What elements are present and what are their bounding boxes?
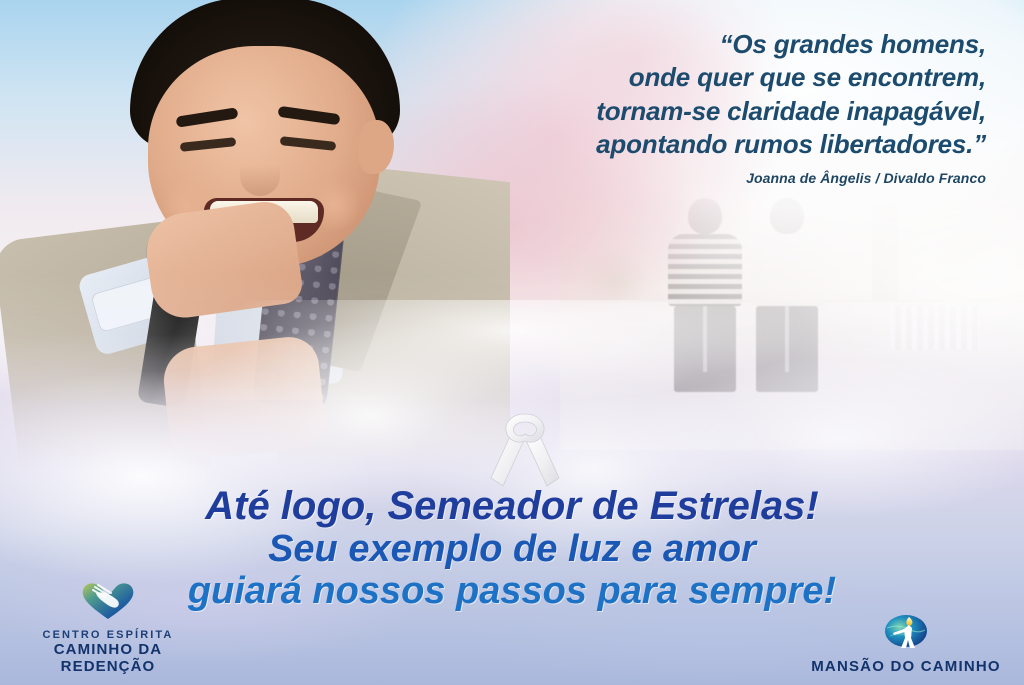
quote-line-2: onde quer que se encontrem, <box>386 61 986 94</box>
globe-figure-flame-icon <box>798 604 1014 655</box>
heart-hands-icon <box>8 579 208 626</box>
logo-left-line-1: CENTRO ESPÍRITA <box>8 629 208 641</box>
quote-attribution: Joanna de Ângelis / Divaldo Franco <box>386 170 986 186</box>
headline-line-1: Até logo, Semeador de Estrelas! <box>0 486 1024 527</box>
nose <box>240 144 280 196</box>
quote-line-3: tornam-se claridade inapagável, <box>386 95 986 128</box>
logo-centro-espirita[interactable]: CENTRO ESPÍRITA CAMINHO DA REDENÇÃO <box>8 579 208 675</box>
quote-line-1: “Os grandes homens, <box>386 28 986 61</box>
logo-right-line-1: MANSÃO DO CAMINHO <box>798 658 1014 675</box>
white-ribbon-icon <box>487 408 563 492</box>
memorial-poster: “Os grandes homens, onde quer que se enc… <box>0 0 1024 685</box>
logo-left-line-2: CAMINHO DA REDENÇÃO <box>8 641 208 675</box>
quote-line-4: apontando rumos libertadores.” <box>386 128 986 161</box>
headline-line-2: Seu exemplo de luz e amor <box>0 530 1024 569</box>
logo-mansao-do-caminho[interactable]: MANSÃO DO CAMINHO <box>798 604 1014 675</box>
quote-text: “Os grandes homens, onde quer que se enc… <box>386 28 986 161</box>
